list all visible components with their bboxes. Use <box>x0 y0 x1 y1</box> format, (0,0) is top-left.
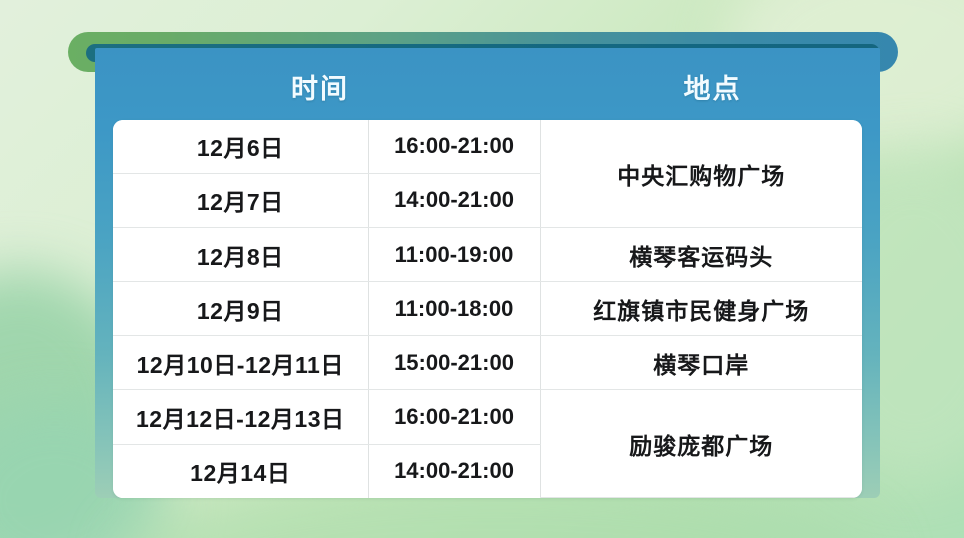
column-header-place: 地点 <box>545 67 880 106</box>
cell-place: 中央汇购物广场 <box>540 120 862 228</box>
schedule-table: 12月6日16:00-21:00中央汇购物广场12月7日14:00-21:001… <box>113 120 862 498</box>
cell-date: 12月12日-12月13日 <box>113 390 368 444</box>
cell-time: 14:00-21:00 <box>368 444 540 497</box>
cell-date: 12月10日-12月11日 <box>113 336 368 390</box>
cell-time: 11:00-18:00 <box>368 282 540 336</box>
cell-time: 11:00-19:00 <box>368 228 540 282</box>
table-row: 12月9日11:00-18:00红旗镇市民健身广场 <box>113 282 862 336</box>
cell-time: 16:00-21:00 <box>368 390 540 444</box>
cell-date: 12月6日 <box>113 120 368 173</box>
cell-place: 红旗镇市民健身广场 <box>540 282 862 336</box>
cell-date: 12月9日 <box>113 282 368 336</box>
cell-time: 15:00-21:00 <box>368 336 540 390</box>
cell-time: 14:00-21:00 <box>368 173 540 227</box>
cell-date: 12月8日 <box>113 228 368 282</box>
table-row: 12月12日-12月13日16:00-21:00励骏庞都广场 <box>113 390 862 444</box>
column-header-time: 时间 <box>95 67 545 106</box>
cell-date: 12月7日 <box>113 173 368 227</box>
cell-place: 励骏庞都广场 <box>540 390 862 498</box>
schedule-table-body: 12月6日16:00-21:00中央汇购物广场12月7日14:00-21:001… <box>113 120 862 498</box>
cell-date: 12月14日 <box>113 444 368 497</box>
cell-time: 16:00-21:00 <box>368 120 540 173</box>
schedule-table-container: 12月6日16:00-21:00中央汇购物广场12月7日14:00-21:001… <box>113 120 862 498</box>
poster-stage: 时间 地点 12月6日16:00-21:00中央汇购物广场12月7日14:00-… <box>0 0 964 538</box>
cell-place: 横琴口岸 <box>540 336 862 390</box>
table-header-row: 时间 地点 <box>95 52 880 120</box>
cell-place: 横琴客运码头 <box>540 228 862 282</box>
table-row: 12月10日-12月11日15:00-21:00横琴口岸 <box>113 336 862 390</box>
table-row: 12月8日11:00-19:00横琴客运码头 <box>113 228 862 282</box>
table-row: 12月6日16:00-21:00中央汇购物广场 <box>113 120 862 173</box>
